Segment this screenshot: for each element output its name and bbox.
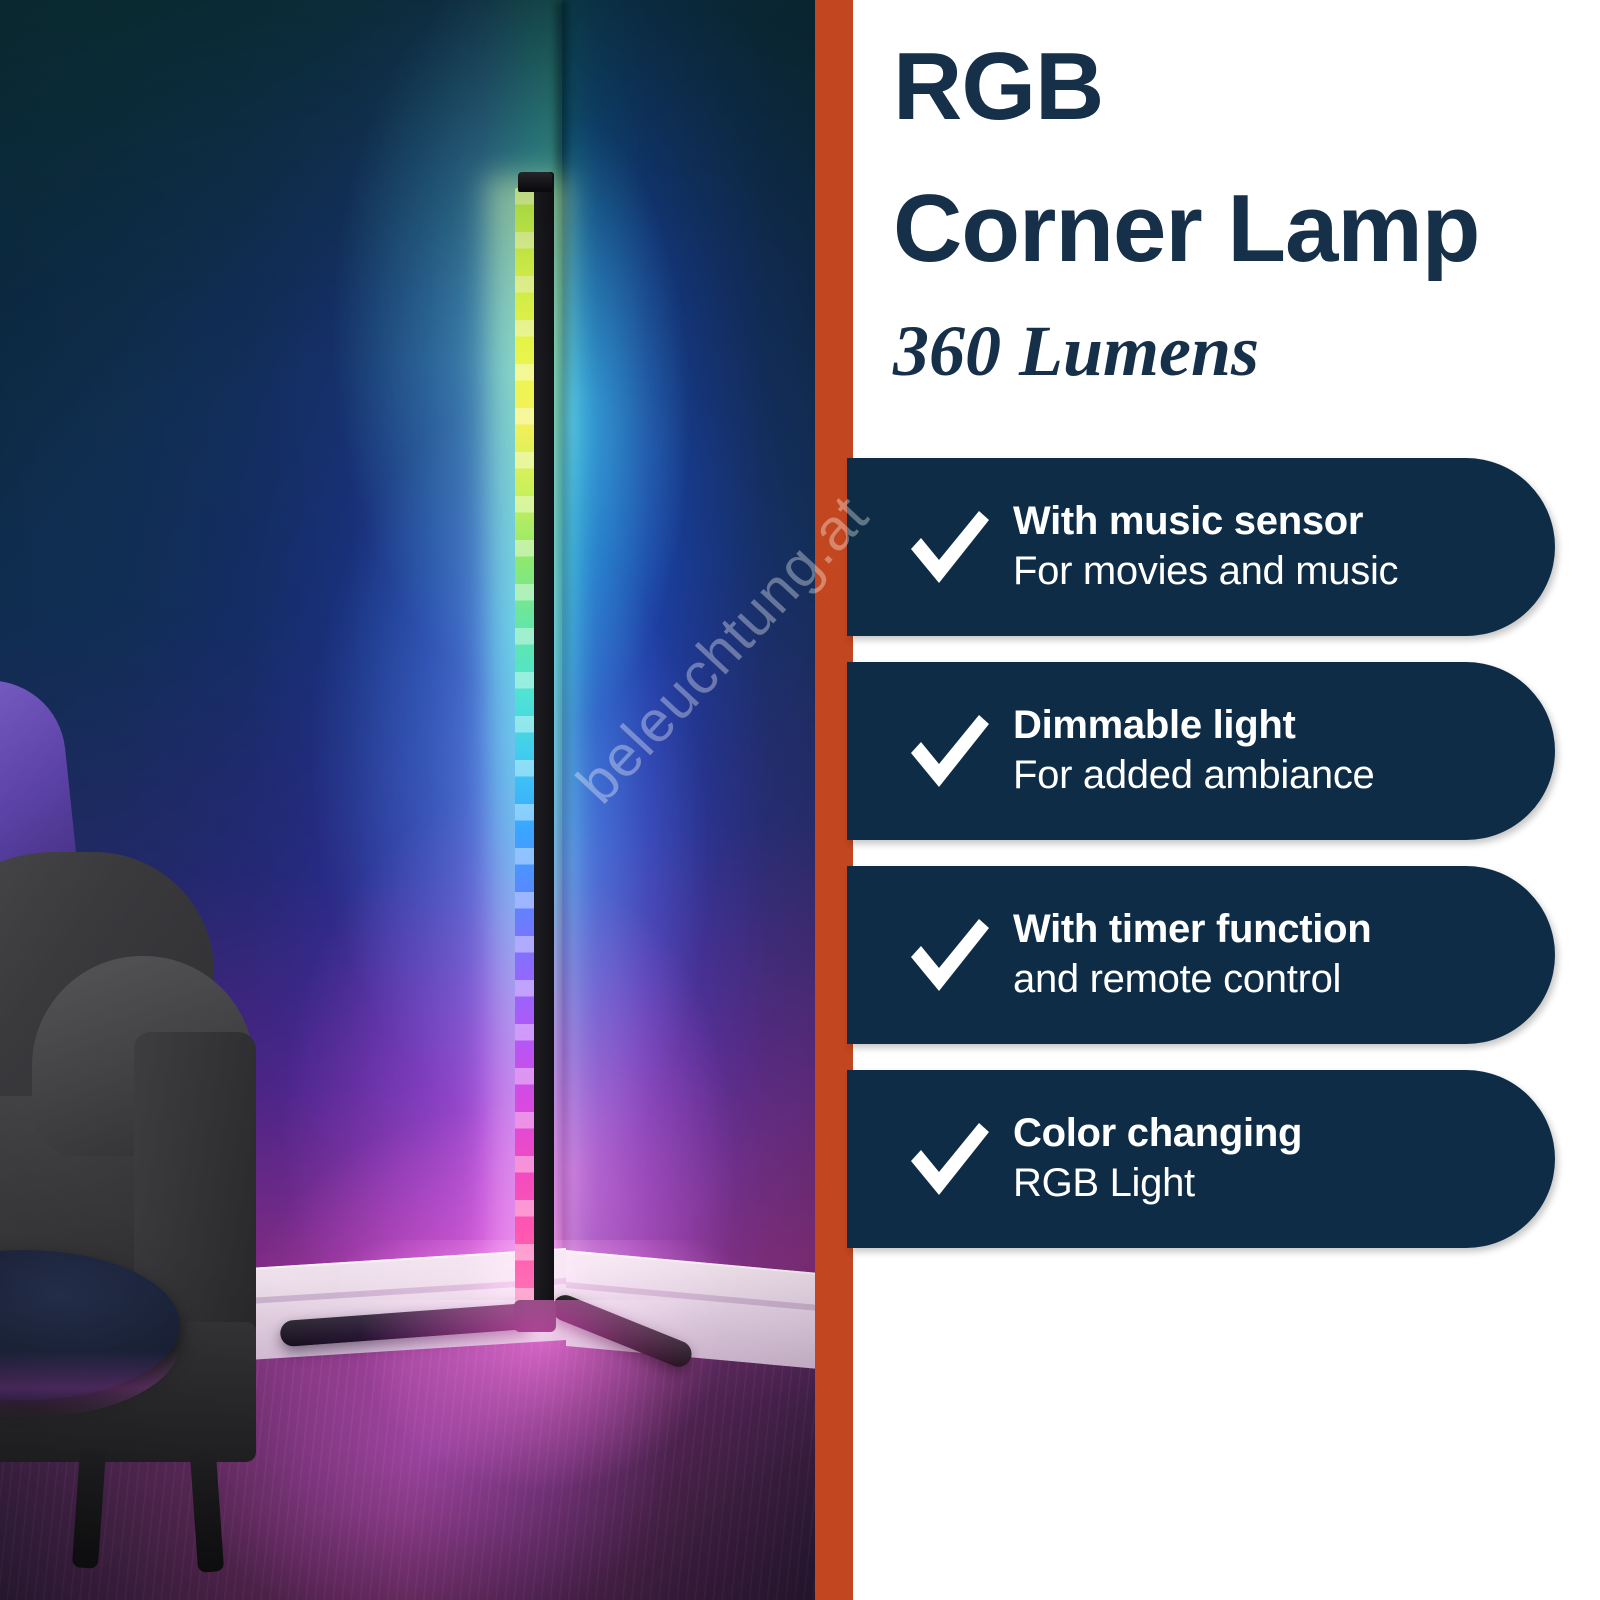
product-title-line-1: RGB	[893, 36, 1593, 138]
feature-item-timer-function: With timer function and remote control	[847, 866, 1555, 1044]
feature-subtitle: For added ambiance	[1013, 752, 1375, 799]
lamp-top-cap	[518, 172, 552, 192]
feature-title: With timer function	[1013, 907, 1371, 951]
feature-text: Dimmable light For added ambiance	[1013, 703, 1375, 799]
feature-item-music-sensor: With music sensor For movies and music	[847, 458, 1555, 636]
feature-text: Color changing RGB Light	[1013, 1111, 1302, 1207]
product-infographic: RGB Corner Lamp 360 Lumens With music se…	[0, 0, 1600, 1600]
check-icon	[899, 1111, 999, 1207]
feature-title: Color changing	[1013, 1111, 1302, 1155]
feature-item-dimmable-light: Dimmable light For added ambiance	[847, 662, 1555, 840]
feature-item-color-changing: Color changing RGB Light	[847, 1070, 1555, 1248]
product-photo	[0, 0, 815, 1600]
feature-subtitle: and remote control	[1013, 956, 1371, 1003]
product-title-block: RGB Corner Lamp 360 Lumens	[893, 36, 1593, 393]
wall-right-glow	[562, 0, 815, 1330]
wall-corner-seam	[556, 0, 568, 1300]
corner-lamp	[512, 172, 554, 1318]
info-panel: RGB Corner Lamp 360 Lumens With music se…	[853, 0, 1600, 1600]
lamp-base-hub	[514, 1300, 556, 1332]
lamp-led-segments	[515, 188, 534, 1314]
check-icon	[899, 703, 999, 799]
feature-title: With music sensor	[1013, 499, 1363, 543]
check-icon	[899, 907, 999, 1003]
feature-list: With music sensor For movies and music D…	[847, 458, 1600, 1274]
product-title-line-2: Corner Lamp	[893, 178, 1593, 280]
side-table	[0, 1250, 180, 1450]
feature-subtitle: For movies and music	[1013, 548, 1398, 595]
product-subtitle-lumens: 360 Lumens	[893, 310, 1593, 393]
check-icon	[899, 499, 999, 595]
feature-text: With music sensor For movies and music	[1013, 499, 1398, 595]
feature-title: Dimmable light	[1013, 703, 1296, 747]
feature-text: With timer function and remote control	[1013, 907, 1371, 1003]
feature-subtitle: RGB Light	[1013, 1160, 1302, 1207]
